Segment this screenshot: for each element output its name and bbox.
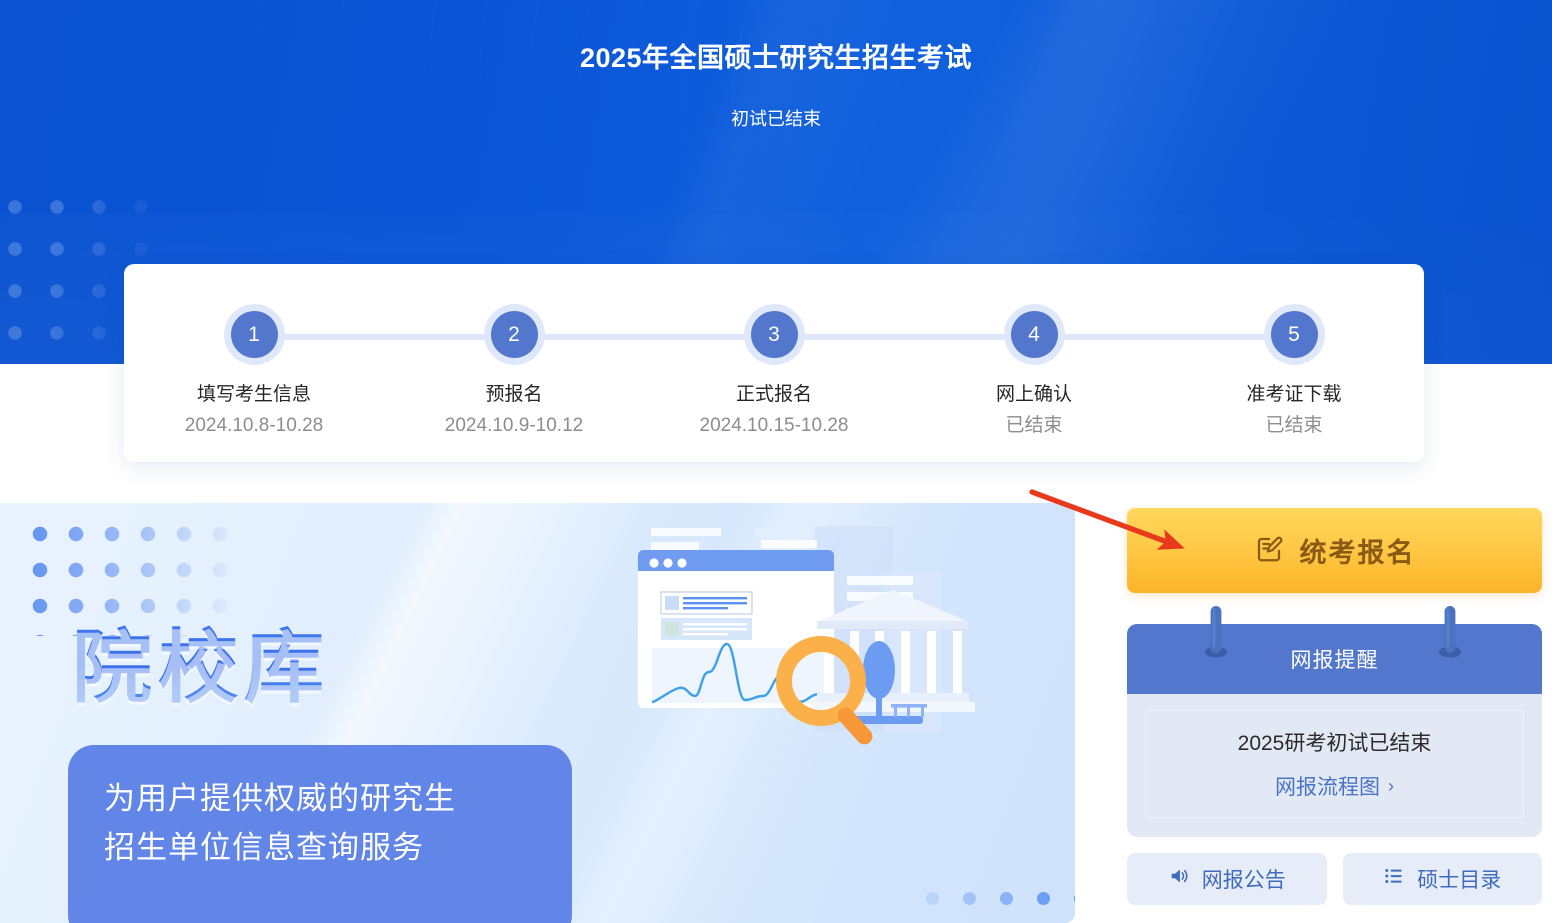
carousel-dot-2[interactable]	[963, 892, 976, 905]
notice-flowchart-link-label: 网报流程图	[1275, 771, 1380, 801]
step-label: 网上确认	[996, 382, 1072, 408]
step-label: 预报名	[485, 382, 542, 408]
speaker-icon	[1168, 865, 1190, 893]
page-title: 2025年全国硕士研究生招生考试	[0, 36, 1552, 75]
step-item-2[interactable]: 2 预报名 2024.10.9-10.12	[384, 311, 644, 438]
step-label: 准考证下载	[1246, 382, 1341, 408]
step-item-1[interactable]: 1 填写考生信息 2024.10.8-10.28	[124, 311, 384, 438]
carousel-dot-1[interactable]	[926, 892, 939, 905]
step-number-badge: 4	[1011, 311, 1058, 358]
step-date: 2024.10.9-10.12	[445, 413, 583, 439]
steps-row: 1 填写考生信息 2024.10.8-10.28 2 预报名 2024.10.9…	[124, 264, 1424, 462]
step-number-badge: 5	[1271, 311, 1318, 358]
step-label: 正式报名	[736, 382, 812, 408]
carousel-dots[interactable]	[926, 892, 1075, 905]
notice-message: 2025研考初试已结束	[1238, 727, 1432, 757]
master-catalog-button[interactable]: 硕士目录	[1343, 853, 1543, 905]
step-date: 2024.10.15-10.28	[700, 413, 849, 439]
banner-description-line1: 为用户提供权威的研究生	[104, 775, 536, 824]
banner-description: 为用户提供权威的研究生 招生单位信息查询服务	[68, 745, 572, 923]
master-catalog-button-label: 硕士目录	[1417, 864, 1501, 894]
announcement-button-label: 网报公告	[1202, 864, 1286, 894]
unified-exam-register-button[interactable]: 统考报名	[1127, 508, 1542, 593]
step-item-4[interactable]: 4 网上确认 已结束	[904, 311, 1164, 438]
quick-links-row: 网报公告 硕士目录	[1127, 853, 1542, 905]
school-database-banner[interactable]: 院校库 为用户提供权威的研究生 招生单位信息查询服务	[0, 503, 1075, 923]
step-number-badge: 2	[491, 311, 538, 358]
banner-description-line2: 招生单位信息查询服务	[104, 824, 536, 873]
page-subtitle: 初试已结束	[0, 105, 1552, 131]
carousel-dot-4[interactable]	[1037, 892, 1050, 905]
notice-card-header: 网报提醒	[1127, 624, 1542, 694]
step-date: 已结束	[1005, 413, 1062, 439]
register-button-label: 统考报名	[1300, 531, 1416, 570]
list-icon	[1383, 865, 1405, 893]
carousel-dot-5[interactable]	[1074, 892, 1075, 905]
step-number-badge: 3	[751, 311, 798, 358]
notice-card-title: 网报提醒	[1291, 644, 1379, 674]
carousel-dot-3[interactable]	[1000, 892, 1013, 905]
pin-icon-left	[1205, 606, 1227, 664]
step-label: 填写考生信息	[197, 382, 311, 408]
form-edit-icon	[1254, 534, 1284, 567]
notice-card-body: 2025研考初试已结束 网报流程图 ›	[1145, 710, 1524, 818]
step-date: 2024.10.8-10.28	[185, 413, 323, 439]
steps-card: 1 填写考生信息 2024.10.8-10.28 2 预报名 2024.10.9…	[124, 264, 1424, 462]
pin-icon-right	[1439, 606, 1461, 664]
step-number-badge: 1	[231, 311, 278, 358]
step-item-5[interactable]: 5 准考证下载 已结束	[1164, 311, 1424, 438]
online-registration-notice-card: 网报提醒 2025研考初试已结束 网报流程图 ›	[1127, 624, 1542, 837]
page-root: 2025年全国硕士研究生招生考试 初试已结束 1 填写考生信息 2024.10.…	[0, 0, 1552, 923]
step-date: 已结束	[1265, 413, 1322, 439]
step-item-3[interactable]: 3 正式报名 2024.10.15-10.28	[644, 311, 904, 438]
notice-flowchart-link[interactable]: 网报流程图 ›	[1275, 771, 1394, 801]
announcement-button[interactable]: 网报公告	[1127, 853, 1327, 905]
chevron-right-icon: ›	[1388, 777, 1394, 795]
banner-illustration	[615, 518, 1035, 818]
banner-title: 院校库	[72, 603, 330, 719]
